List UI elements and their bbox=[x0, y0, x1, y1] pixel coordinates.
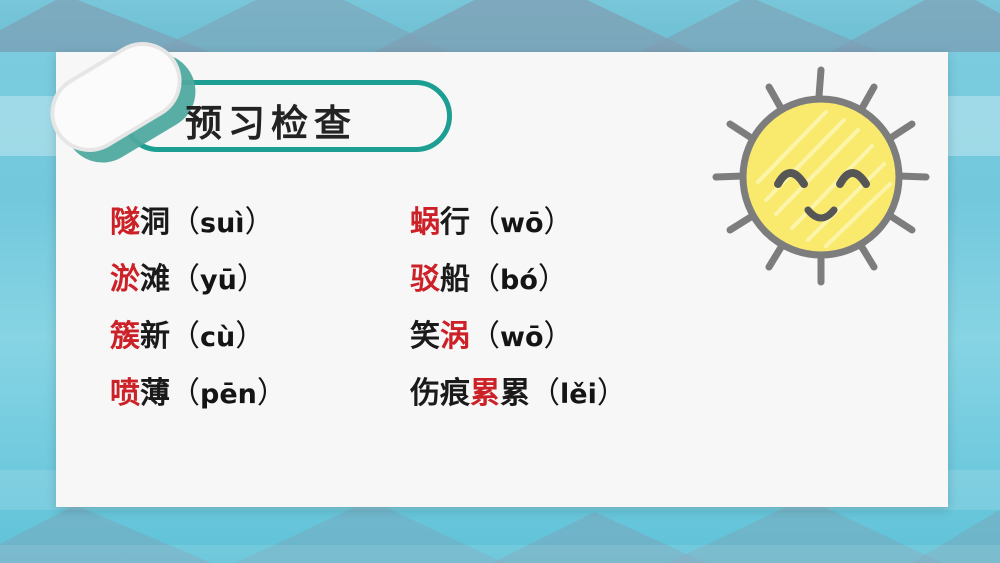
vocab-char-highlight: 驳 bbox=[410, 262, 440, 297]
vocabulary-right-column: 蜗行（wō） 驳船（bó） 笑涡（wō） 伤痕累累（lěi） bbox=[410, 208, 710, 436]
vocab-char-prefix: 伤痕 bbox=[410, 376, 470, 411]
vocab-char-highlight: 涡 bbox=[440, 319, 470, 354]
vocabulary-item: 驳船（bó） bbox=[410, 265, 710, 322]
vocabulary-left-column: 隧洞（suì） 淤滩（yū） 簇新（cù） 喷薄（pēn） bbox=[110, 208, 400, 436]
open-paren: （ bbox=[470, 319, 500, 354]
vocab-char-highlight: 淤 bbox=[110, 262, 140, 297]
vocabulary-item: 伤痕累累（lěi） bbox=[410, 379, 710, 436]
vocabulary-item: 笑涡（wō） bbox=[410, 322, 710, 379]
open-paren: （ bbox=[170, 376, 200, 411]
pinyin: yū bbox=[200, 265, 237, 296]
pinyin: wō bbox=[500, 322, 544, 353]
close-paren: ） bbox=[245, 205, 275, 240]
close-paren: ） bbox=[544, 205, 574, 240]
close-paren: ） bbox=[235, 319, 265, 354]
vocab-char: 滩 bbox=[140, 262, 170, 297]
open-paren: （ bbox=[170, 319, 200, 354]
vocabulary-item: 喷薄（pēn） bbox=[110, 379, 400, 436]
vocab-char-highlight: 蜗 bbox=[410, 205, 440, 240]
vocab-char-suffix: 累 bbox=[500, 376, 530, 411]
open-paren: （ bbox=[470, 205, 500, 240]
vocab-char: 新 bbox=[140, 319, 170, 354]
pinyin: lěi bbox=[560, 379, 597, 410]
pinyin: wō bbox=[500, 208, 544, 239]
background-wash bbox=[0, 545, 1000, 563]
vocab-char: 笑 bbox=[410, 319, 440, 354]
vocab-char-highlight: 喷 bbox=[110, 376, 140, 411]
pinyin: pēn bbox=[200, 379, 257, 410]
open-paren: （ bbox=[170, 262, 200, 297]
close-paren: ） bbox=[257, 376, 287, 411]
pinyin: cù bbox=[200, 322, 235, 353]
close-paren: ） bbox=[544, 319, 574, 354]
close-paren: ） bbox=[237, 262, 267, 297]
vocab-char-highlight: 隧 bbox=[110, 205, 140, 240]
vocabulary-item: 簇新（cù） bbox=[110, 322, 400, 379]
pinyin: suì bbox=[200, 208, 245, 239]
pinyin: bó bbox=[500, 265, 538, 296]
vocabulary-item: 隧洞（suì） bbox=[110, 208, 400, 265]
vocab-char: 船 bbox=[440, 262, 470, 297]
open-paren: （ bbox=[530, 376, 560, 411]
close-paren: ） bbox=[538, 262, 568, 297]
open-paren: （ bbox=[170, 205, 200, 240]
vocabulary-item: 淤滩（yū） bbox=[110, 265, 400, 322]
close-paren: ） bbox=[597, 376, 627, 411]
vocab-char: 行 bbox=[440, 205, 470, 240]
vocab-char-highlight: 簇 bbox=[110, 319, 140, 354]
page-title: 预习检查 bbox=[185, 93, 357, 147]
smiling-sun-icon bbox=[706, 62, 936, 290]
vocabulary-item: 蜗行（wō） bbox=[410, 208, 710, 265]
vocab-char-highlight: 累 bbox=[470, 376, 500, 411]
vocab-char: 薄 bbox=[140, 376, 170, 411]
open-paren: （ bbox=[470, 262, 500, 297]
vocab-char: 洞 bbox=[140, 205, 170, 240]
